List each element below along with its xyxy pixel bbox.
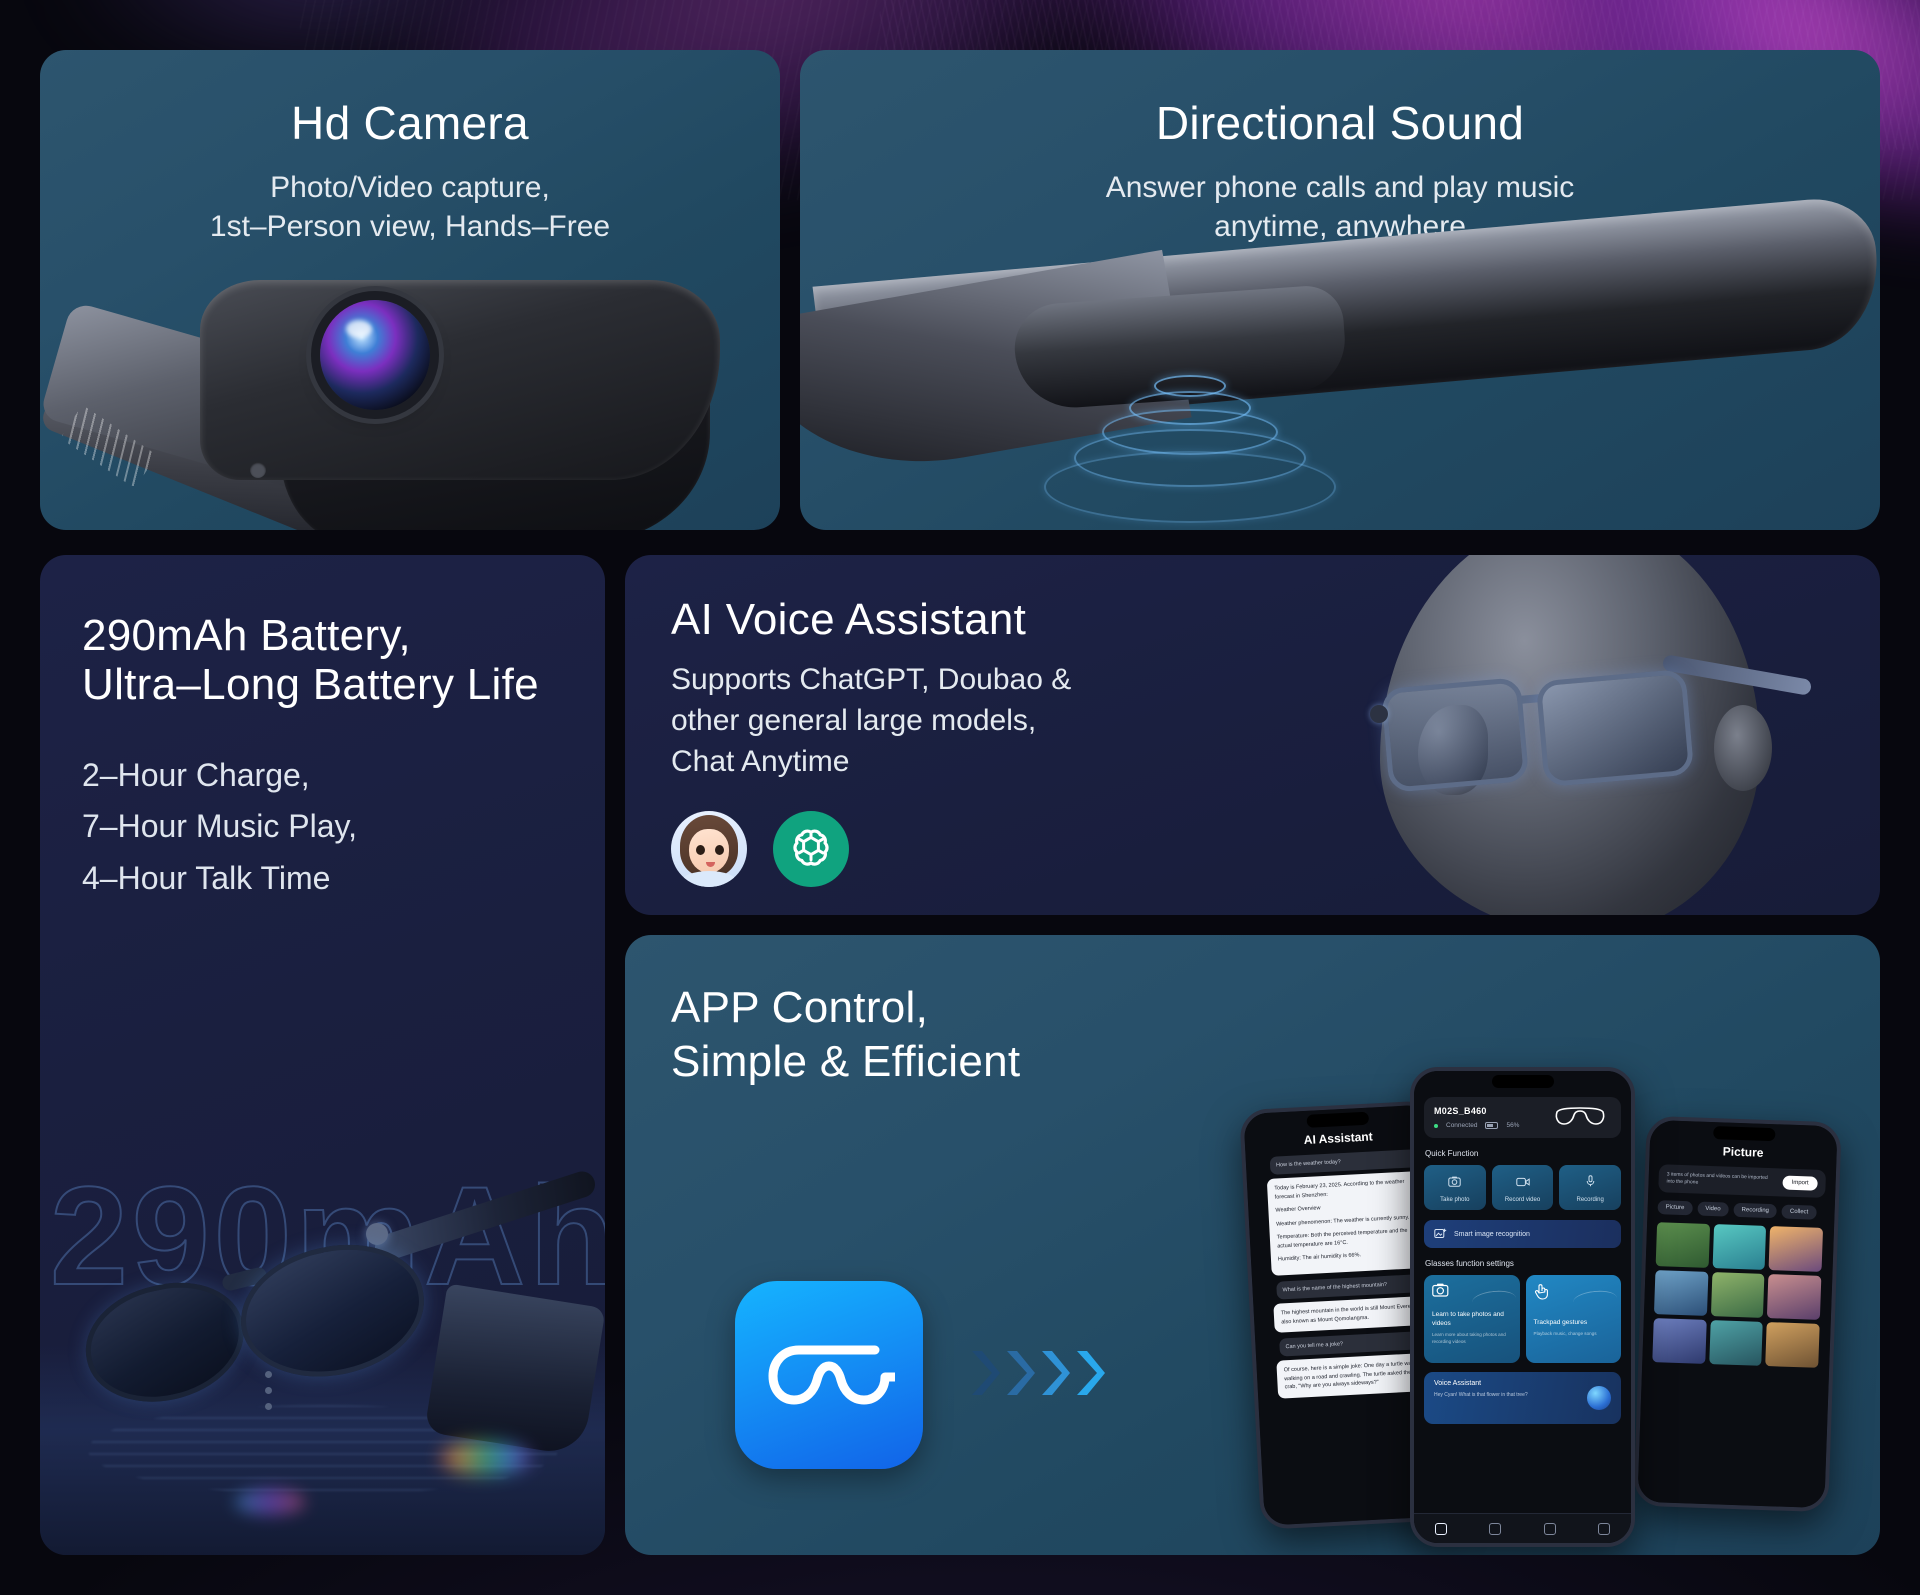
record-video-label: Record video [1495, 1197, 1551, 1203]
glasses-app-icon[interactable] [735, 1281, 923, 1469]
gallery-thumbnail[interactable] [1711, 1272, 1765, 1318]
picture-screen-title: Picture [1659, 1142, 1826, 1162]
decorative-wave [1471, 1289, 1517, 1312]
chat-bot-line: Humidity: The air humidity is 66%. [1278, 1249, 1415, 1265]
import-button[interactable]: Import [1782, 1175, 1817, 1190]
picture-screen: Picture 3 items of photos and videos can… [1637, 1120, 1837, 1508]
phone-device-control[interactable]: M02S_B460 Connected 56% Quick Function [1410, 1067, 1635, 1547]
filter-chip-recording[interactable]: Recording [1733, 1203, 1777, 1219]
gallery-thumbnail[interactable] [1712, 1224, 1766, 1270]
chat-bot-line: Weather Overview [1275, 1200, 1412, 1216]
feature-card-directional-sound: Directional Sound Answer phone calls and… [800, 50, 1880, 530]
filter-chip-collect[interactable]: Collect [1782, 1204, 1817, 1219]
battery-spec-list: 2–Hour Charge, 7–Hour Music Play, 4–Hour… [40, 710, 605, 905]
feature-card-hd-camera: Hd Camera Photo/Video capture, 1st–Perso… [40, 50, 780, 530]
battery-title-line1: 290mAh Battery, [82, 611, 605, 660]
feature-card-ai-voice-assistant: AI Voice Assistant Supports ChatGPT, Dou… [625, 555, 1880, 915]
gallery-thumbnail[interactable] [1656, 1222, 1710, 1268]
voice-assistant-title: Voice Assistant [1434, 1380, 1611, 1387]
trackpad-gestures-card[interactable]: Trackpad gestures Playback music, change… [1526, 1275, 1622, 1363]
ai-assistant-screen-title: AI Assistant [1254, 1127, 1422, 1150]
rainbow-flare-1 [440, 1441, 530, 1475]
record-video-button[interactable]: Record video [1492, 1165, 1554, 1210]
take-photo-label: Take photo [1427, 1197, 1483, 1203]
device-battery-level: 56% [1506, 1122, 1519, 1129]
glasses-function-settings-label: Glasses function settings [1425, 1259, 1621, 1268]
glasses-left-lens [75, 1270, 255, 1416]
glasses-hinge-screw [250, 462, 266, 478]
device-control-screen: M02S_B460 Connected 56% Quick Function [1414, 1071, 1631, 1543]
worn-glasses-camera-icon [1370, 705, 1388, 723]
smart-glasses-product-shot [70, 1175, 590, 1445]
chat-bot-line: Temperature: Both the perceived temperat… [1277, 1227, 1415, 1251]
hd-camera-title: Hd Camera [40, 50, 780, 150]
doubao-eye-left [696, 845, 705, 855]
chat-user-message: How is the weather today? [1270, 1149, 1424, 1175]
tab-device-icon[interactable] [1489, 1523, 1501, 1535]
smart-image-recognition-label: Smart image recognition [1454, 1231, 1530, 1238]
chevron-right-icon [1005, 1349, 1035, 1397]
sound-wave-rings-icon [1040, 375, 1340, 505]
glasses-hinge [366, 1223, 388, 1245]
chat-user-message: What is the name of the highest mountain… [1276, 1274, 1430, 1300]
gallery-thumbnail[interactable] [1769, 1226, 1823, 1272]
chat-bot-line: Weather phenomenon: The weather is curre… [1276, 1213, 1413, 1229]
gallery-thumbnail[interactable] [1709, 1320, 1763, 1366]
glasses-camera-housing [200, 280, 720, 480]
camera-icon [1432, 1283, 1449, 1297]
voice-assistant-sub: Hey Cyan! What is that flower in that tr… [1434, 1392, 1611, 1398]
import-banner: 3 items of photos and videos can be impo… [1658, 1164, 1826, 1198]
app-phone-mockups: AI Assistant How is the weather today? T… [1240, 955, 1880, 1555]
tab-gallery-icon[interactable] [1544, 1523, 1556, 1535]
quick-function-row: Take photo Record video Recording [1424, 1165, 1621, 1210]
camera-icon [1448, 1176, 1461, 1187]
learn-photos-card[interactable]: Learn to take photos and videos Learn mo… [1424, 1275, 1520, 1363]
directional-sound-illustration [800, 200, 1880, 530]
smart-image-recognition-button[interactable]: Smart image recognition [1424, 1220, 1621, 1248]
trackpad-gestures-title: Trackpad gestures [1534, 1318, 1614, 1327]
arrow-chevrons [970, 1349, 1105, 1397]
voice-assistant-card[interactable]: Voice Assistant Hey Cyan! What is that f… [1424, 1372, 1621, 1424]
feature-card-app-control: APP Control, Simple & Efficient AI Assis… [625, 935, 1880, 1555]
chat-bot-line: Today is February 23, 2025. According to… [1274, 1178, 1412, 1202]
gallery-thumbnail[interactable] [1767, 1274, 1821, 1320]
glasses-outline-icon [1554, 1106, 1612, 1128]
decorative-wave [1572, 1289, 1618, 1312]
filter-chip-video[interactable]: Video [1697, 1202, 1729, 1217]
hd-camera-illustration [40, 210, 780, 530]
status-dot-icon [1434, 1124, 1438, 1128]
import-banner-text: 3 items of photos and videos can be impo… [1666, 1171, 1776, 1189]
video-icon [1516, 1177, 1530, 1187]
image-recognition-icon [1434, 1228, 1447, 1240]
worn-glasses-right-lens [1536, 669, 1695, 788]
gallery-thumbnail[interactable] [1654, 1270, 1708, 1316]
worn-glasses-left-lens [1381, 677, 1530, 793]
battery-title-line2: Ultra–Long Battery Life [82, 660, 605, 709]
chat-bot-message: The highest mountain in the world is sti… [1273, 1296, 1425, 1333]
chevron-right-icon [1040, 1349, 1070, 1397]
gallery-thumbnail[interactable] [1652, 1318, 1706, 1364]
take-photo-button[interactable]: Take photo [1424, 1165, 1486, 1210]
camera-lens-icon [320, 300, 430, 410]
voice-orb-icon [1587, 1386, 1611, 1410]
ai-assistant-subtitle: Supports ChatGPT, Doubao & other general… [625, 644, 1185, 782]
chevron-right-icon [970, 1349, 1000, 1397]
recording-button[interactable]: Recording [1559, 1165, 1621, 1210]
doubao-eye-right [715, 845, 724, 855]
filter-chip-picture[interactable]: Picture [1657, 1200, 1692, 1215]
gallery-thumbnail[interactable] [1766, 1322, 1820, 1368]
chatgpt-logo-icon[interactable] [773, 811, 849, 887]
trackpad-gestures-sub: Playback music, change songs [1534, 1331, 1614, 1337]
recording-label: Recording [1562, 1197, 1618, 1203]
hand-gesture-icon [1534, 1283, 1549, 1300]
glasses-frame-closeup [70, 270, 770, 530]
phone-notch [1713, 1126, 1775, 1141]
battery-title: 290mAh Battery, Ultra–Long Battery Life [40, 555, 605, 710]
feature-card-grid: Hd Camera Photo/Video capture, 1st–Perso… [0, 0, 1920, 1595]
ai-assistant-subtitle-line2: other general large models, [671, 701, 1185, 742]
doubao-body [681, 871, 737, 887]
ai-assistant-subtitle-line3: Chat Anytime [671, 742, 1185, 783]
glasses-vent-lines [60, 405, 157, 488]
ai-partner-badges [671, 811, 849, 887]
tab-home-icon[interactable] [1435, 1523, 1447, 1535]
phone-notch [1492, 1075, 1554, 1088]
phone-picture-gallery[interactable]: Picture 3 items of photos and videos can… [1633, 1116, 1841, 1513]
learn-photos-sub: Learn more about taking photos and recor… [1432, 1332, 1512, 1345]
doubao-avatar-icon[interactable] [671, 811, 747, 887]
hd-camera-subtitle-line1: Photo/Video capture, [40, 168, 780, 208]
learn-photos-title: Learn to take photos and videos [1432, 1310, 1512, 1328]
directional-sound-title: Directional Sound [800, 50, 1880, 150]
sound-ring-5 [1044, 451, 1336, 523]
ai-assistant-subtitle-line1: Supports ChatGPT, Doubao & [671, 660, 1185, 701]
device-connection-status: Connected [1446, 1122, 1477, 1129]
microphone-icon [1586, 1175, 1595, 1187]
glasses-temple-folded [424, 1283, 605, 1456]
ai-head-illustration [1220, 555, 1880, 915]
gallery-thumbnail-grid [1652, 1222, 1824, 1368]
battery-spec-item: 2–Hour Charge, [82, 750, 605, 802]
tab-profile-icon[interactable] [1598, 1523, 1610, 1535]
rainbow-flare-2 [235, 1489, 305, 1515]
phone-tab-bar [1414, 1513, 1631, 1543]
quick-function-label: Quick Function [1425, 1149, 1621, 1158]
battery-spec-item: 7–Hour Music Play, [82, 801, 605, 853]
connected-device-card[interactable]: M02S_B460 Connected 56% [1424, 1097, 1621, 1138]
glasses-button-dots [265, 1371, 272, 1419]
gallery-filter-chips: Picture Video Recording Collect [1657, 1200, 1824, 1220]
glasses-function-settings-row: Learn to take photos and videos Learn mo… [1424, 1275, 1621, 1363]
battery-illustration: 290mAh [40, 1085, 605, 1555]
chat-bot-message: Today is February 23, 2025. According to… [1267, 1171, 1423, 1275]
mannequin-ear [1714, 705, 1772, 791]
battery-spec-item: 4–Hour Talk Time [82, 853, 605, 905]
battery-icon [1485, 1122, 1498, 1129]
glasses-temple-open [372, 1168, 599, 1264]
chat-bot-message: Of course, here is a simple joke: One da… [1276, 1353, 1429, 1398]
feature-card-battery: 290mAh Battery, Ultra–Long Battery Life … [40, 555, 605, 1555]
chevron-right-icon [1075, 1349, 1105, 1397]
